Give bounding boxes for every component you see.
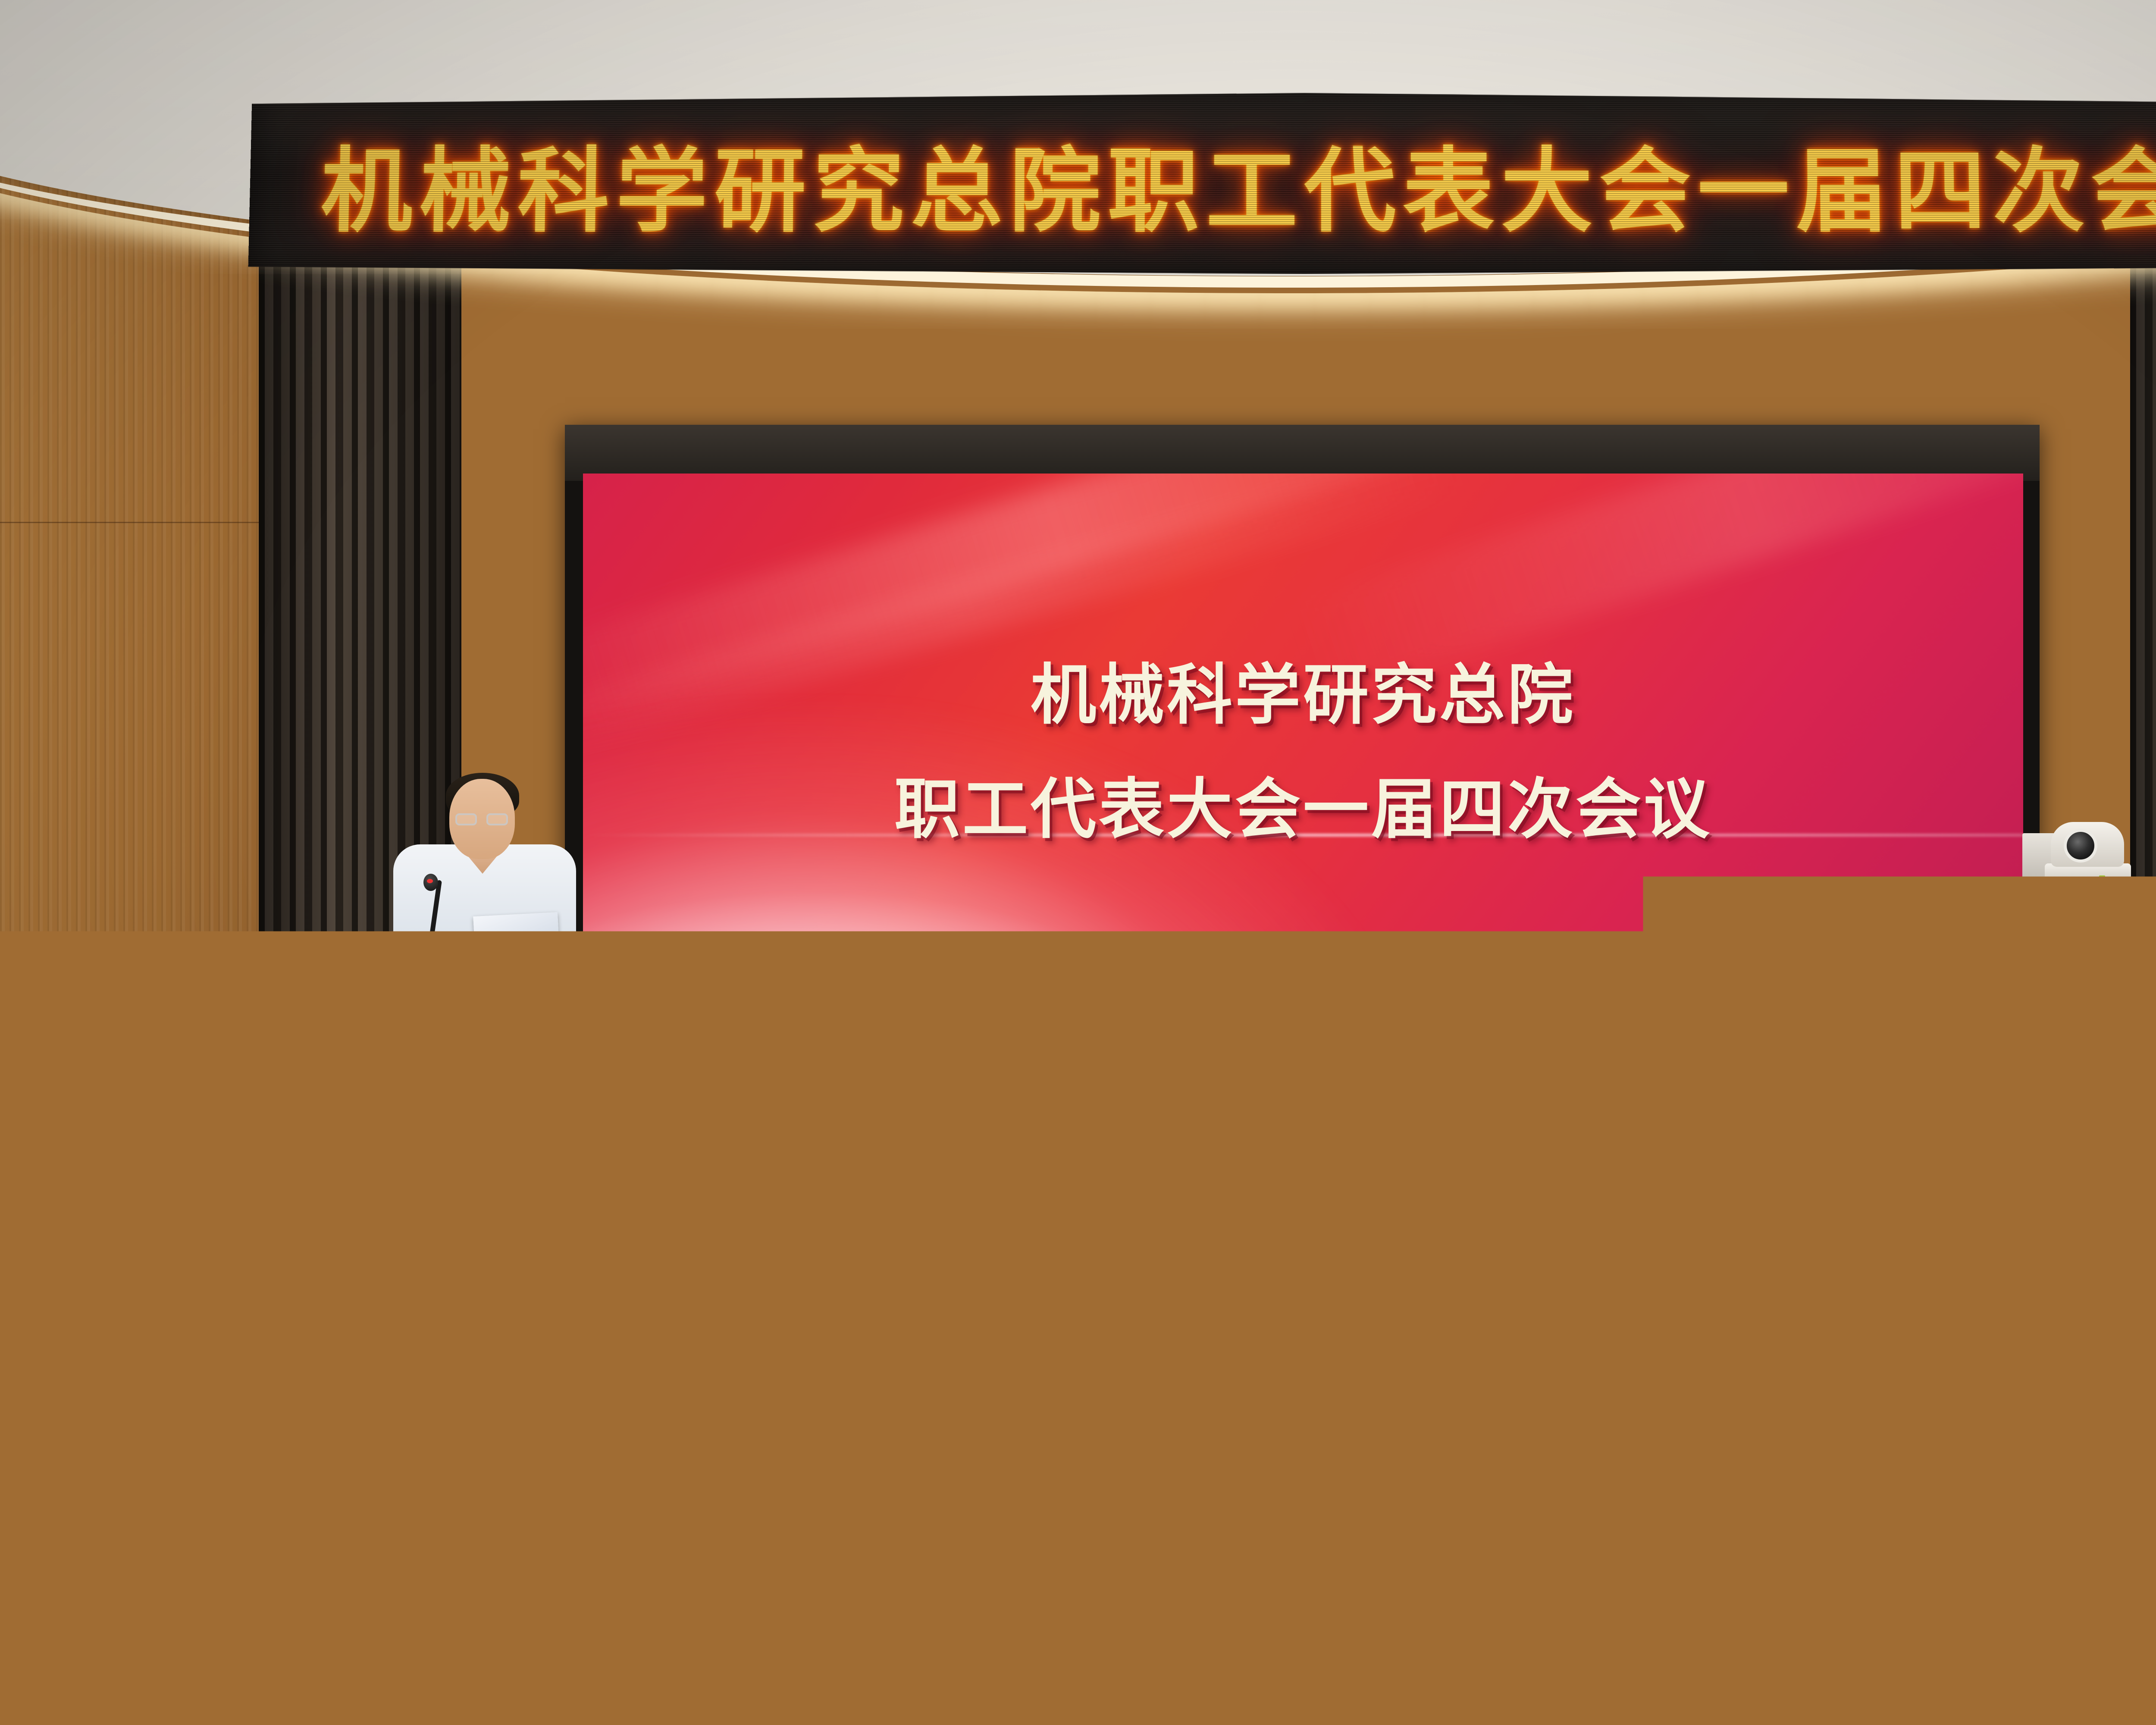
projection-screen-top-rail xyxy=(565,425,2040,481)
smartphone xyxy=(1100,1220,1154,1235)
microphone-indicator xyxy=(427,879,433,883)
attendee-hair xyxy=(761,1104,835,1169)
conference-hall-scene: 机械科学研究总院职工代表大会一届四次会议 机械科学研究总院 职工代表大会一届四次… xyxy=(0,0,2156,1725)
smartphone xyxy=(17,1207,82,1227)
led-banner: 机械科学研究总院职工代表大会一届四次会议 xyxy=(248,93,2156,274)
eyeglasses-icon xyxy=(455,813,508,826)
placard-logo-en: China Academy of Machinery Science & Tec… xyxy=(132,1166,232,1170)
attendee-hair xyxy=(1126,1108,1185,1160)
placard-name: 玉亭 xyxy=(150,1185,208,1221)
water-bottle xyxy=(1190,1182,1214,1234)
teacup-knob xyxy=(1155,1181,1160,1187)
attendee-hair xyxy=(931,1134,1035,1228)
attendee-hair xyxy=(584,1072,675,1152)
slide-title-line1: 机械科学研究总院 xyxy=(583,642,2023,737)
attendee-hair xyxy=(1324,1126,1432,1223)
academy-triangle-logo-icon xyxy=(119,1163,130,1173)
attendee-hair xyxy=(1686,1212,1850,1363)
slide-title-line2: 职工代表大会一届四次会议 xyxy=(583,756,2023,851)
teacup-handle xyxy=(1128,1200,1140,1222)
attendee-hair xyxy=(2007,1302,2156,1488)
foreground-table xyxy=(0,1643,2156,1725)
eyeglasses-icon xyxy=(72,1134,123,1151)
placard-logo: China Academy of Machinery Science & Tec… xyxy=(119,1163,232,1173)
led-scanline-overlay xyxy=(248,93,2156,274)
camera-lens-icon xyxy=(2064,829,2097,862)
attendee-hair xyxy=(428,1136,534,1232)
audience-area: China Academy of Machinery Science & Tec… xyxy=(0,1026,2156,1725)
attendee-hair xyxy=(1973,1130,2081,1228)
led-panel: 机械科学研究总院职工代表大会一届四次会议 xyxy=(248,93,2156,274)
podium-front-panel xyxy=(375,975,599,1026)
foreground-table-edge xyxy=(0,1627,2156,1646)
speaker-hand xyxy=(454,944,486,968)
name-placard: China Academy of Machinery Science & Tec… xyxy=(108,1156,250,1224)
wall-seam xyxy=(0,522,276,523)
attendee-hair xyxy=(1242,1285,1457,1488)
attendee-hair xyxy=(1774,1119,1883,1219)
camera-status-led xyxy=(2099,875,2105,879)
attendee-hair xyxy=(101,1328,304,1509)
attendee-hair xyxy=(53,1074,128,1143)
attendee-hair xyxy=(578,1268,768,1453)
bottle-label xyxy=(1191,1209,1213,1232)
